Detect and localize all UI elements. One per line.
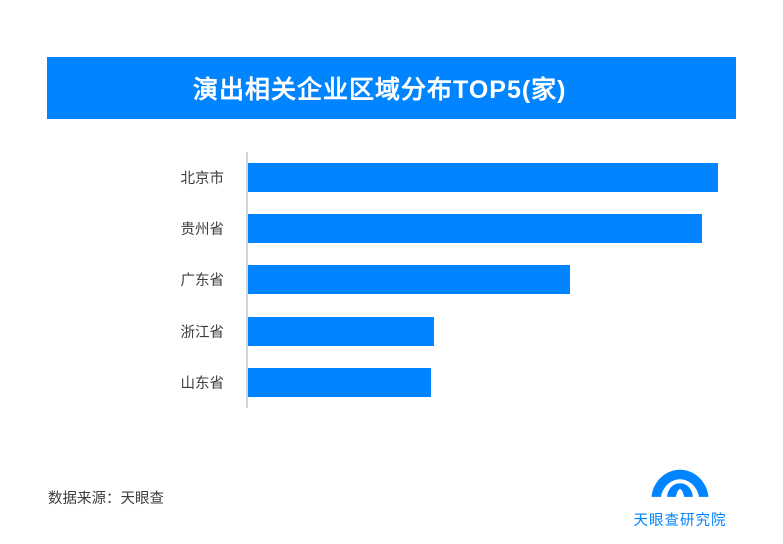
category-row: 贵州省	[47, 203, 237, 254]
bar-row	[248, 203, 718, 254]
category-label: 山东省	[181, 372, 238, 393]
category-row: 山东省	[47, 357, 237, 408]
bar-item	[248, 317, 434, 346]
category-row: 广东省	[47, 254, 237, 305]
chart-title-bar: 演出相关企业区域分布TOP5(家)	[47, 57, 736, 119]
bar-row	[248, 306, 718, 357]
bar-item	[248, 214, 702, 243]
bar-series	[248, 152, 718, 408]
category-row: 浙江省	[47, 306, 237, 357]
category-label: 浙江省	[181, 321, 238, 342]
page-title: 演出相关企业区域分布TOP5(家)	[193, 70, 567, 106]
category-label: 贵州省	[181, 218, 238, 239]
category-label: 北京市	[181, 167, 238, 188]
category-axis-labels: 北京市 贵州省 广东省 浙江省 山东省	[47, 152, 237, 408]
bar-item	[248, 265, 570, 294]
brand-logo: 天眼查研究院	[620, 467, 740, 533]
data-source-label: 数据来源：天眼查	[48, 487, 164, 508]
bar-item	[248, 368, 431, 397]
bar-row	[248, 254, 718, 305]
bar-chart: 北京市 贵州省 广东省 浙江省 山东省	[47, 140, 736, 420]
bar-row	[248, 357, 718, 408]
bar-item	[248, 163, 718, 192]
chart-page: 演出相关企业区域分布TOP5(家) 北京市 贵州省 广东省 浙江省 山东省	[0, 0, 783, 544]
tianyancha-logo-icon	[646, 467, 714, 505]
logo-text: 天眼查研究院	[634, 509, 727, 530]
category-row: 北京市	[47, 152, 237, 203]
category-label: 广东省	[181, 269, 238, 290]
bar-row	[248, 152, 718, 203]
